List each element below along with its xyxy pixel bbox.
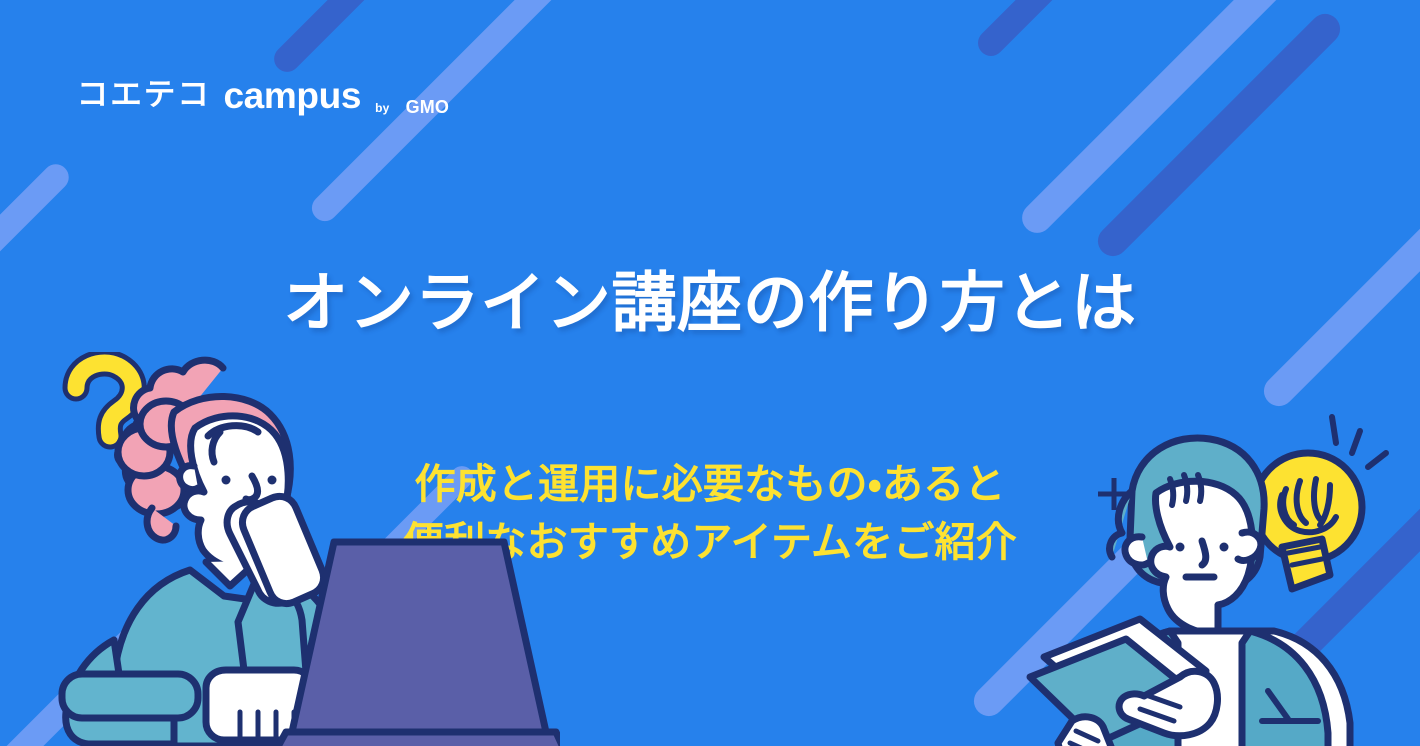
stripe-dark-3: [1092, 8, 1347, 263]
stripe-dark-1: [269, 0, 393, 77]
coeteco-campus-logo[interactable]: コエテコ campus by GMO: [78, 72, 449, 118]
page-subtitle-line-1: 作成と運用に必要なもの・あると: [0, 455, 1420, 513]
stripe-light-5: [0, 586, 185, 746]
plus-mark-icon: [1093, 473, 1135, 515]
page-subtitle: 作成と運用に必要なもの・あると 便利なおすすめアイテムをご紹介: [0, 455, 1420, 571]
stripe-light-3: [1016, 0, 1334, 239]
page-subtitle-line-2: 便利なおすすめアイテムをご紹介: [0, 513, 1420, 571]
logo-kana-text: コエテコ: [77, 80, 211, 111]
question-mark-icon: [58, 352, 173, 472]
banner-canvas: コエテコ campus by GMO オンライン講座の作り方とは 作成と運用に必…: [0, 0, 1420, 746]
logo-by-text: by: [375, 102, 389, 114]
logo-campus-text: campus: [223, 77, 361, 114]
page-title: オンライン講座の作り方とは: [0, 268, 1420, 341]
stripe-dark-2: [973, 0, 1126, 61]
logo-gmo-text: GMO: [406, 98, 450, 116]
